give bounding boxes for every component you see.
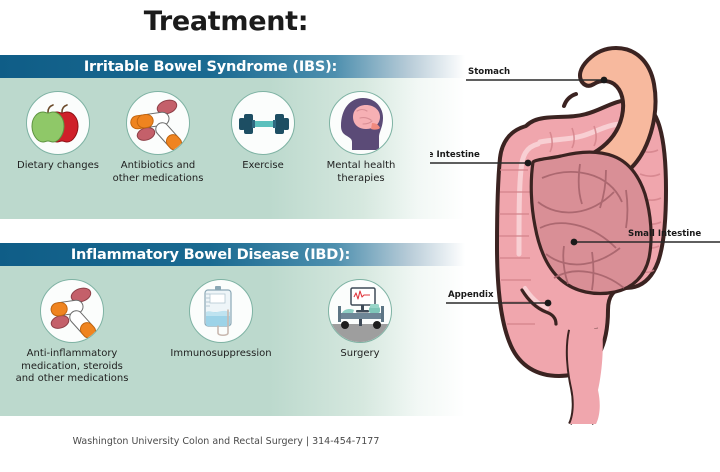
section-ibd-items: Anti-inflammatory medication, steroids a… bbox=[0, 266, 465, 416]
anatomy-label-text: Appendix bbox=[448, 290, 494, 300]
treatment-item-label: Mental health therapies bbox=[313, 160, 409, 185]
treatment-item-exercise[interactable]: Exercise bbox=[215, 91, 311, 173]
treatment-item-label: Surgery bbox=[310, 348, 410, 361]
dumbbell-icon bbox=[231, 91, 295, 155]
treatment-item-surgery[interactable]: Surgery bbox=[310, 279, 410, 361]
leader-dot-appendix bbox=[545, 300, 552, 307]
head-brain-icon bbox=[329, 91, 393, 155]
treatment-item-label: Anti-inflammatory medication, steroids a… bbox=[10, 348, 134, 386]
treatment-item-label: Immunosuppression bbox=[160, 348, 282, 361]
pills-icon bbox=[40, 279, 104, 343]
section-ibd-body: Anti-inflammatory medication, steroids a… bbox=[0, 266, 465, 416]
treatment-item-label: Exercise bbox=[215, 160, 311, 173]
treatment-item-mental-health[interactable]: Mental health therapies bbox=[313, 91, 409, 185]
section-ibs: Irritable Bowel Syndrome (IBS): Dietary … bbox=[0, 55, 465, 219]
section-ibs-items: Dietary changes bbox=[0, 78, 465, 219]
treatment-item-label: Dietary changes bbox=[10, 160, 106, 173]
anatomy-label-text: Large Intestine bbox=[430, 150, 480, 160]
apples-icon bbox=[26, 91, 90, 155]
treatment-item-antibiotics[interactable]: Antibiotics and other medications bbox=[106, 91, 210, 185]
digestive-system-diagram: Stomach Large Intestine Small Intestine … bbox=[430, 40, 720, 430]
section-ibs-body: Dietary changes bbox=[0, 78, 465, 219]
page-title: Treatment: bbox=[0, 6, 452, 37]
rectum-shape bbox=[568, 328, 603, 424]
leader-dot-stomach bbox=[601, 77, 608, 84]
hospital-bed-icon bbox=[328, 279, 392, 343]
treatment-item-label: Antibiotics and other medications bbox=[106, 160, 210, 185]
anatomy-label-text: Stomach bbox=[468, 67, 510, 77]
section-ibs-header: Irritable Bowel Syndrome (IBS): bbox=[0, 55, 465, 78]
treatment-item-immunosuppression[interactable]: Immunosuppression bbox=[160, 279, 282, 361]
section-ibd-header: Inflammatory Bowel Disease (IBD): bbox=[0, 243, 465, 266]
section-ibd-title: Inflammatory Bowel Disease (IBD): bbox=[71, 247, 350, 263]
pills-icon bbox=[126, 91, 190, 155]
section-ibd: Inflammatory Bowel Disease (IBD): bbox=[0, 243, 465, 416]
treatment-item-dietary-changes[interactable]: Dietary changes bbox=[10, 91, 106, 173]
leader-dot-small-intestine bbox=[571, 239, 578, 246]
footer-credit: Washington University Colon and Rectal S… bbox=[0, 436, 452, 447]
anatomy-label-text: Small Intestine bbox=[628, 229, 701, 239]
leader-dot-large-intestine bbox=[525, 160, 532, 167]
section-ibs-title: Irritable Bowel Syndrome (IBS): bbox=[84, 59, 337, 75]
treatment-item-anti-inflammatory[interactable]: Anti-inflammatory medication, steroids a… bbox=[10, 279, 134, 386]
iv-bag-icon bbox=[189, 279, 253, 343]
